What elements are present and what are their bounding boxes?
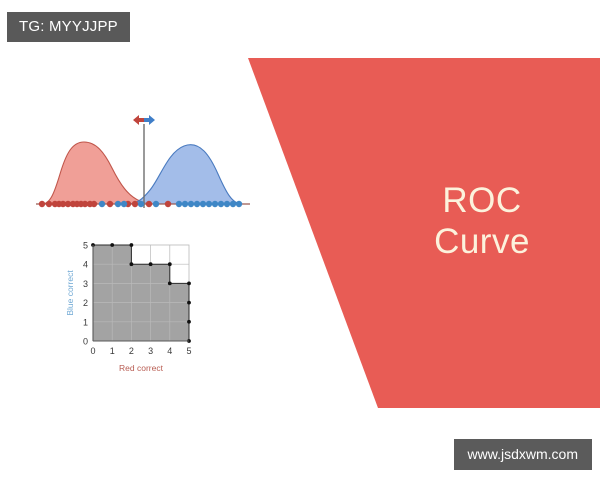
red-distribution-curve: [42, 142, 158, 204]
roc-point: [187, 301, 191, 305]
arrow-right-icon[interactable]: [144, 115, 155, 125]
y-tick: 3: [83, 279, 88, 289]
roc-point: [187, 320, 191, 324]
y-tick: 2: [83, 298, 88, 308]
x-tick: 4: [167, 346, 172, 356]
roc-point: [110, 243, 114, 247]
blue-distribution-curve: [128, 145, 242, 204]
roc-point: [149, 262, 153, 266]
x-tick: 1: [110, 346, 115, 356]
x-tick-labels: 0 1 2 3 4 5: [90, 346, 191, 356]
roc-point: [130, 262, 134, 266]
roc-point: [187, 282, 191, 286]
slide-canvas: ROC Curve: [0, 0, 600, 480]
x-tick: 5: [186, 346, 191, 356]
x-tick: 3: [148, 346, 153, 356]
site-watermark: www.jsdxwm.com: [454, 439, 592, 470]
roc-point: [168, 262, 172, 266]
x-tick: 0: [90, 346, 95, 356]
y-axis-label: Blue correct: [65, 270, 75, 316]
panel-title: ROC Curve: [382, 180, 582, 263]
y-tick: 5: [83, 241, 88, 251]
arrow-left-icon[interactable]: [133, 115, 144, 125]
x-tick: 2: [129, 346, 134, 356]
x-axis-label: Red correct: [119, 363, 164, 373]
y-tick-labels: 5 4 3 2 1 0: [83, 241, 88, 347]
y-tick: 0: [83, 337, 88, 347]
telegram-handle-badge: TG: MYYJJPP: [7, 12, 130, 42]
y-tick: 1: [83, 317, 88, 327]
roc-step-chart: 5 4 3 2 1 0 0 1 2 3 4 5 Red correct Blue…: [58, 235, 218, 380]
distribution-figure: [28, 108, 258, 208]
roc-point: [168, 282, 172, 286]
roc-point: [130, 243, 134, 247]
threshold-arrow-group[interactable]: [133, 115, 155, 125]
panel-title-line-1: ROC: [382, 180, 582, 221]
panel-title-line-2: Curve: [382, 221, 582, 262]
y-tick: 4: [83, 260, 88, 270]
